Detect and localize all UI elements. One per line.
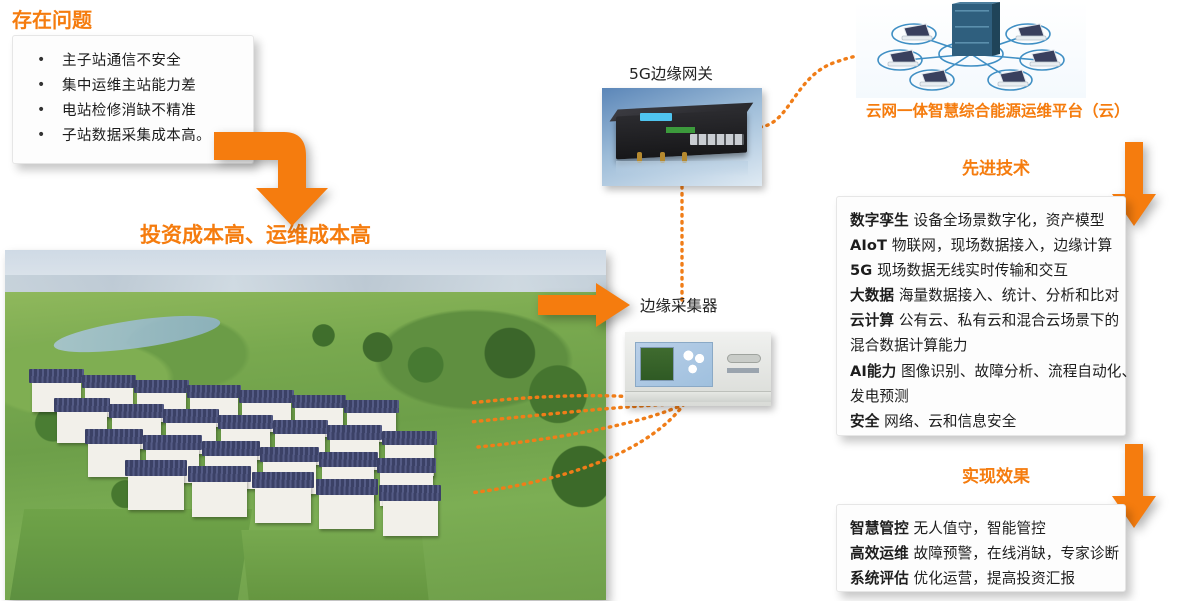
desc: 公有云、私有云和混合云场景下的: [899, 312, 1119, 329]
cloud-platform-illustration: [856, 2, 1086, 98]
desc: 海量数据接入、统计、分析和比对: [899, 287, 1119, 304]
list-item-continuation: 发电预测: [850, 384, 1125, 409]
list-item: 大数据 海量数据接入、统计、分析和比对: [850, 283, 1125, 308]
term: AI能力: [850, 363, 896, 380]
elbow-arrow-down-icon: [214, 110, 332, 228]
desc: 故障预警，在线消缺，专家诊断: [914, 545, 1120, 562]
advanced-technology-card: 数字孪生 设备全场景数字化，资产模型 AIoT 物联网，现场数据接入，边缘计算 …: [836, 196, 1126, 436]
term: 安全: [850, 413, 879, 430]
term: 智慧管控: [850, 520, 909, 537]
realized-effect-card: 智慧管控 无人值守，智能管控 高效运维 故障预警，在线消缺，专家诊断 系统评估 …: [836, 504, 1126, 592]
term: 数字孪生: [850, 212, 909, 229]
desc: 物联网，现场数据接入，边缘计算: [892, 237, 1112, 254]
list-item: 集中运维主站能力差: [13, 74, 253, 99]
term: 大数据: [850, 287, 894, 304]
dotted-line-gateway-to-cloud: [760, 54, 870, 127]
list-item: 云计算 公有云、私有云和混合云场景下的: [850, 308, 1125, 333]
desc: 优化运营，提高投资汇报: [914, 570, 1076, 587]
list-item: 5G 现场数据无线实时传输和交互: [850, 258, 1125, 283]
advanced-technology-list: 数字孪生 设备全场景数字化，资产模型 AIoT 物联网，现场数据接入，边缘计算 …: [837, 197, 1125, 434]
desc: 网络、云和信息安全: [884, 413, 1016, 430]
term: 5G: [850, 262, 872, 279]
list-item: 主子站通信不安全: [13, 49, 253, 74]
list-item: 系统评估 优化运营，提高投资汇报: [850, 566, 1125, 591]
collector-device-photo: [625, 332, 771, 406]
desc: 设备全场景数字化，资产模型: [914, 212, 1105, 229]
advanced-technology-heading: 先进技术: [962, 154, 1030, 179]
desc: 图像识别、故障分析、流程自动化、: [901, 363, 1136, 380]
list-item-continuation: 混合数据计算能力: [850, 333, 1125, 358]
gateway-device-photo: [602, 88, 762, 186]
aerial-photo-rooftop-pv: [5, 250, 606, 600]
list-item: 安全 网络、云和信息安全: [850, 409, 1125, 434]
realized-effect-heading: 实现效果: [962, 462, 1030, 487]
list-item: AIoT 物联网，现场数据接入，边缘计算: [850, 233, 1125, 258]
term: AIoT: [850, 237, 887, 254]
cloud-platform-caption: 云网一体智慧综合能源运维平台（云）: [866, 99, 1130, 121]
desc: 现场数据无线实时传输和交互: [877, 262, 1068, 279]
collector-caption: 边缘采集器: [640, 294, 718, 316]
term: 系统评估: [850, 570, 909, 587]
term: 云计算: [850, 312, 894, 329]
term: 高效运维: [850, 545, 909, 562]
realized-effect-list: 智慧管控 无人值守，智能管控 高效运维 故障预警，在线消缺，专家诊断 系统评估 …: [837, 505, 1125, 591]
problems-heading: 存在问题: [12, 4, 92, 33]
list-item: AI能力 图像识别、故障分析、流程自动化、: [850, 359, 1125, 384]
list-item: 数字孪生 设备全场景数字化，资产模型: [850, 208, 1125, 233]
arrow-right-icon: [538, 283, 630, 327]
list-item: 高效运维 故障预警，在线消缺，专家诊断: [850, 541, 1125, 566]
desc: 无人值守，智能管控: [914, 520, 1046, 537]
gateway-caption: 5G边缘网关: [629, 62, 713, 84]
list-item: 智慧管控 无人值守，智能管控: [850, 516, 1125, 541]
